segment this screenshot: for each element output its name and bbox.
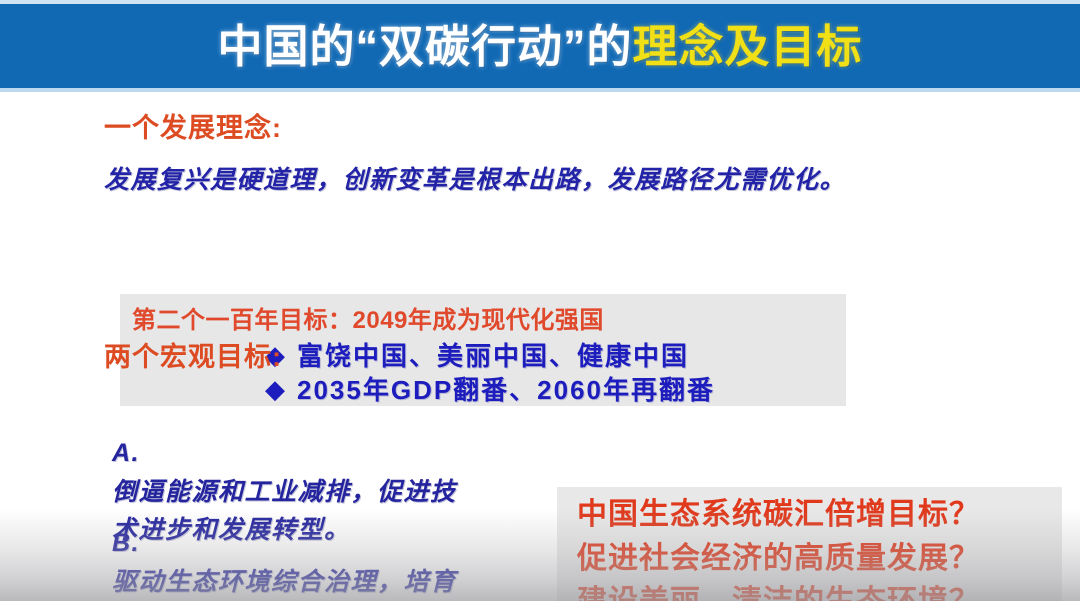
macro-goal-item-a-label: A.	[112, 439, 140, 467]
section-two-heading: 两个宏观目标:	[104, 335, 282, 374]
section-one-heading: 一个发展理念:	[104, 106, 282, 145]
slide-body: 一个发展理念: 发展复兴是硬道理，创新变革是根本出路，发展路径尤需优化。 第二个…	[0, 92, 1080, 601]
ecological-question-3: 建设美丽、清洁的生态环境？	[577, 580, 1062, 601]
slide-title: 中国的“双碳行动”的理念及目标	[217, 24, 862, 69]
macro-goal-item-b-text: 驱动生态环境综合治理，培育 新型生态经济。	[112, 568, 457, 601]
century-goal-bullet-1-label: 富饶中国、美丽中国、健康中国	[297, 336, 689, 373]
slide-canvas: 中国的“双碳行动”的理念及目标 一个发展理念: 发展复兴是硬道理，创新变革是根本…	[0, 0, 1080, 601]
slide-title-white-part: 中国的“双碳行动”的	[217, 21, 632, 72]
development-philosophy-statement: 发展复兴是硬道理，创新变革是根本出路，发展路径尤需优化。	[104, 160, 846, 196]
century-goal-title: 第二个一百年目标：2049年成为现代化强国	[132, 300, 604, 335]
slide-title-yellow-part: 理念及目标	[633, 21, 863, 72]
macro-goal-item-b: B. 驱动生态环境综合治理，培育 新型生态经济。	[112, 485, 532, 601]
century-goal-bullet-1: ◆ 富饶中国、美丽中国、健康中国	[265, 336, 689, 373]
macro-goal-item-b-label: B.	[112, 529, 140, 557]
ecological-questions-box: 中国生态系统碳汇倍增目标？ 促进社会经济的高质量发展？ 建设美丽、清洁的生态环境…	[557, 487, 1062, 601]
ecological-question-1: 中国生态系统碳汇倍增目标？	[577, 493, 1062, 537]
slide-title-banner: 中国的“双碳行动”的理念及目标	[0, 4, 1080, 88]
ecological-question-2: 促进社会经济的高质量发展？	[577, 537, 1062, 581]
